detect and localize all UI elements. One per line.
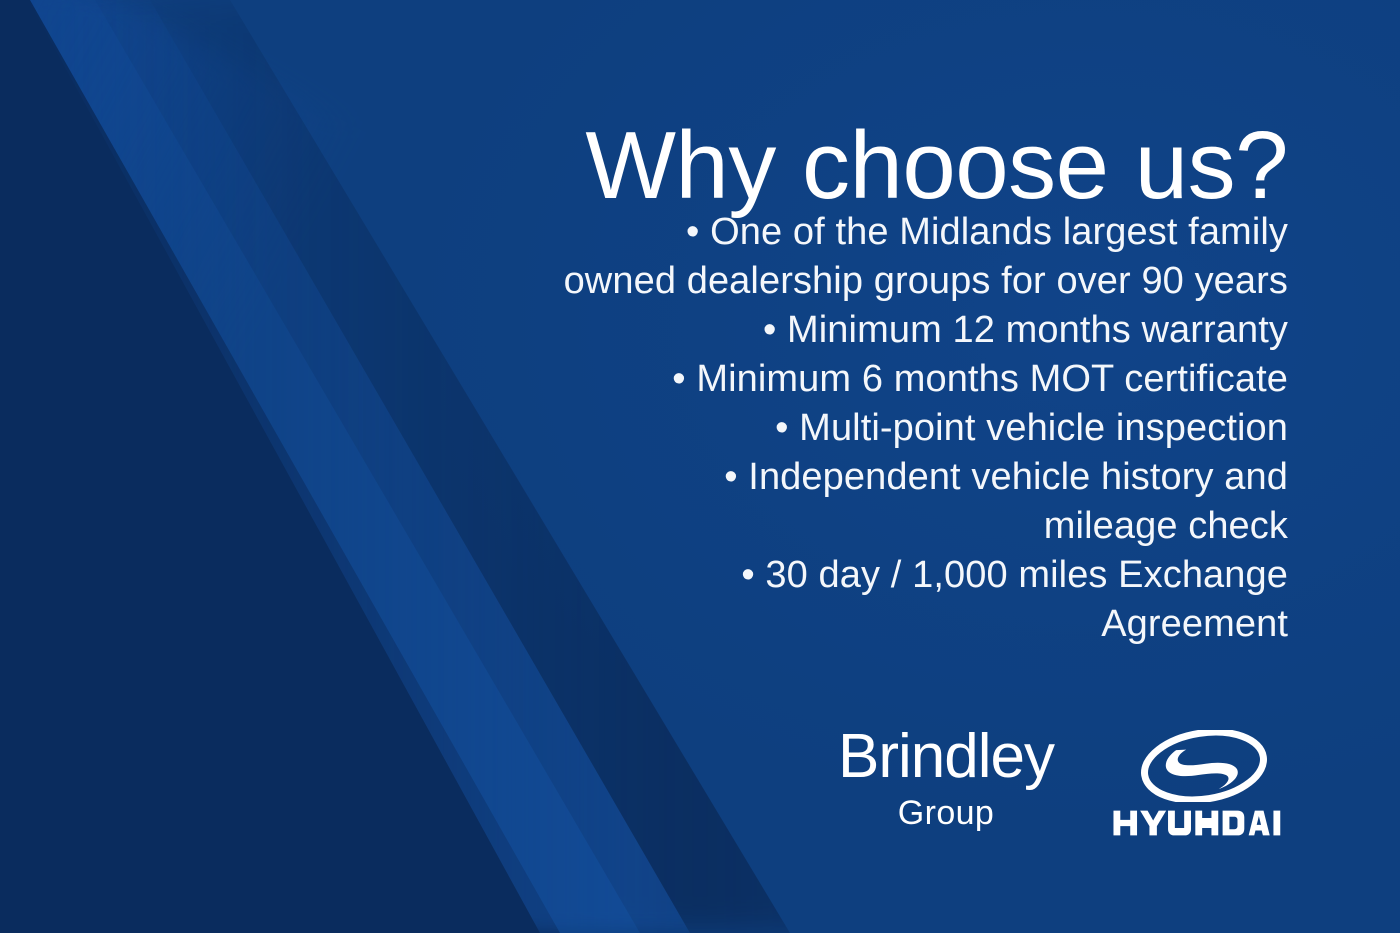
hyundai-wordmark — [1111, 806, 1297, 840]
list-item: mileage check — [408, 502, 1288, 551]
brindley-wordmark: Brindley — [806, 726, 1086, 788]
hyundai-emblem-icon — [1111, 730, 1297, 802]
page-title: Why choose us? — [388, 116, 1288, 217]
content-layer: Why choose us? • One of the Midlands lar… — [0, 0, 1400, 933]
list-item: • Multi-point vehicle inspection — [408, 404, 1288, 453]
brindley-group-logo: Brindley Group — [806, 726, 1086, 830]
list-item: • Independent vehicle history and — [408, 453, 1288, 502]
list-item: Agreement — [408, 600, 1288, 649]
promo-slide: Why choose us? • One of the Midlands lar… — [0, 0, 1400, 933]
list-item: • Minimum 12 months warranty — [408, 306, 1288, 355]
logo-row: Brindley Group — [806, 726, 1306, 866]
list-item: owned dealership groups for over 90 year… — [408, 257, 1288, 306]
list-item: • 30 day / 1,000 miles Exchange — [408, 551, 1288, 600]
benefits-list: • One of the Midlands largest family own… — [408, 208, 1288, 649]
list-item: • Minimum 6 months MOT certificate — [408, 355, 1288, 404]
list-item: • One of the Midlands largest family — [408, 208, 1288, 257]
hyundai-logo — [1104, 730, 1304, 840]
brindley-group-subtext: Group — [806, 796, 1086, 830]
